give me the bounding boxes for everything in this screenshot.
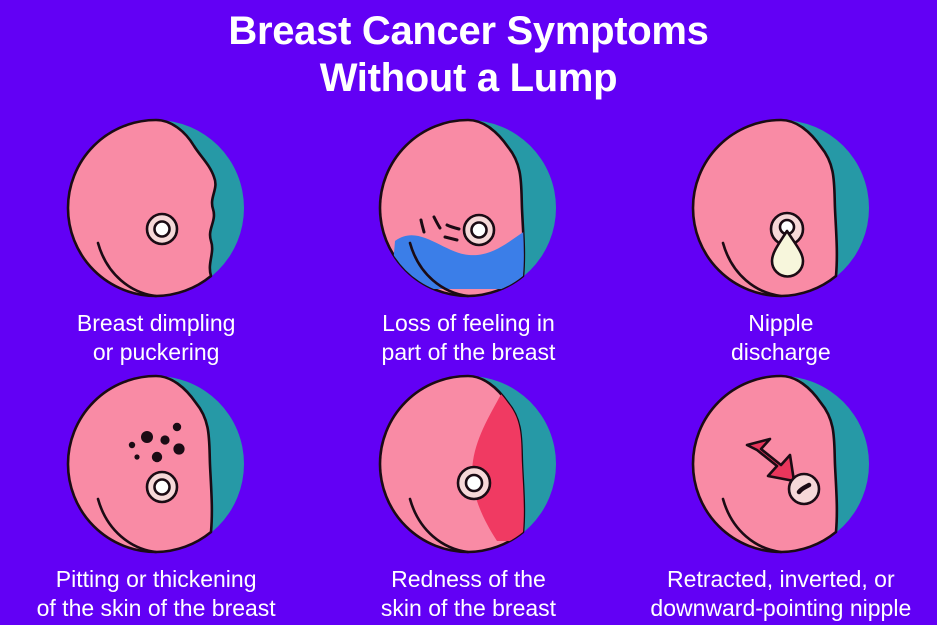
symptom-grid: Breast dimpling or puckering [0,113,937,625]
caption-loss-of-feeling: Loss of feeling in part of the breast [382,309,556,367]
illustration-redness [373,369,563,559]
illustration-retracted-nipple [686,369,876,559]
inverted-nipple [789,474,819,504]
caption-breast-dimpling: Breast dimpling or puckering [77,309,236,367]
nipple [147,214,177,244]
panel-nipple-discharge: Nipple discharge [625,113,937,369]
nipple [458,467,490,499]
caption-pitting-thickening: Pitting or thickening of the skin of the… [37,565,276,623]
nipple [147,472,177,502]
caption-nipple-discharge: Nipple discharge [731,309,831,367]
nipple [464,215,494,245]
title-line-1: Breast Cancer Symptoms [228,9,708,53]
breast-shape-dimpled [68,120,215,296]
breast-shape [693,120,837,296]
panel-loss-of-feeling: Loss of feeling in part of the breast [312,113,624,369]
infographic-page: Breast Cancer Symptoms Without a Lump Br… [0,0,937,625]
page-title: Breast Cancer Symptoms Without a Lump [0,8,937,102]
title-line-2: Without a Lump [0,55,937,102]
panel-pitting-thickening: Pitting or thickening of the skin of the… [0,369,312,625]
caption-retracted-nipple: Retracted, inverted, or downward-pointin… [650,565,911,623]
panel-redness: Redness of the skin of the breast [312,369,624,625]
illustration-pitting-thickening [61,369,251,559]
panel-retracted-nipple: Retracted, inverted, or downward-pointin… [625,369,937,625]
illustration-breast-dimpling [61,113,251,303]
caption-redness: Redness of the skin of the breast [381,565,556,623]
illustration-loss-of-feeling [373,113,563,303]
panel-breast-dimpling: Breast dimpling or puckering [0,113,312,369]
breast-shape [68,376,212,552]
illustration-nipple-discharge [686,113,876,303]
breast-shape [693,376,837,552]
